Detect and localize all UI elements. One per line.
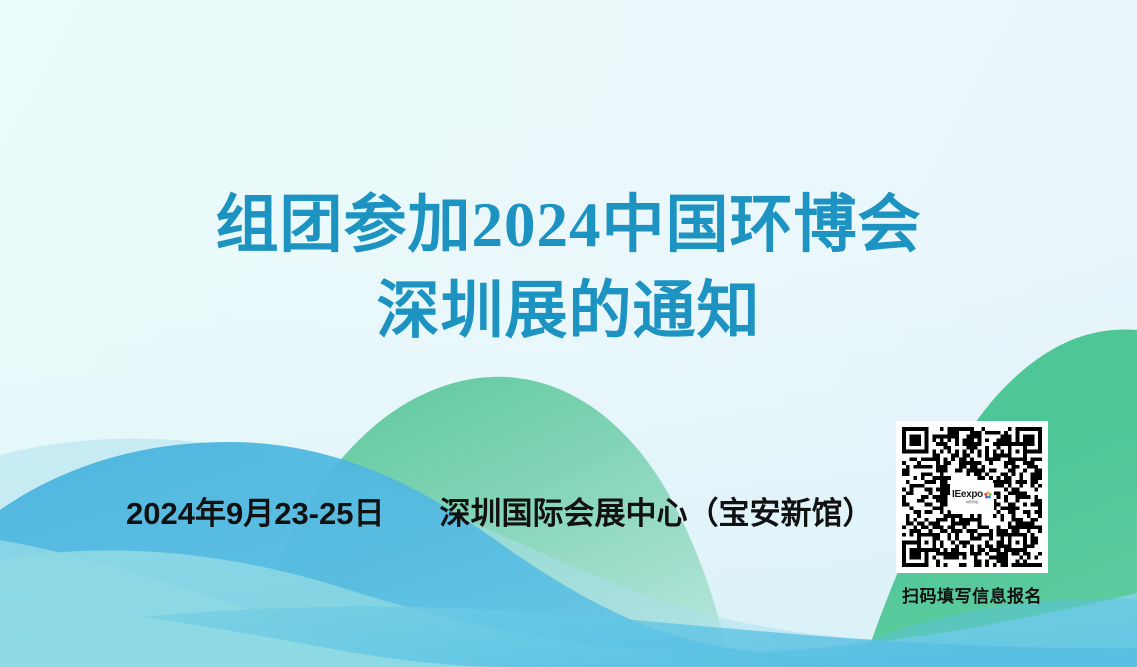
event-info-row: 2024年9月23-25日 深圳国际会展中心（宝安新馆） xyxy=(126,496,874,532)
qr-logo-subtitle: 中国环博会 xyxy=(966,501,979,504)
qr-logo-row: IEexpo xyxy=(952,490,992,500)
flower-logo-icon xyxy=(984,491,992,499)
poster-banner: 组团参加2024中国环博会 深圳展的通知 2024年9月23-25日 深圳国际会… xyxy=(0,0,1137,667)
qr-caption: 扫码填写信息报名 xyxy=(893,587,1051,607)
qr-code-icon[interactable]: IEexpo 中国环博会 xyxy=(896,421,1048,573)
event-date: 2024年9月23-25日 xyxy=(126,496,385,532)
qr-registration-block[interactable]: IEexpo 中国环博会 扫码填写信息报名 xyxy=(893,421,1051,607)
qr-center-logo: IEexpo 中国环博会 xyxy=(950,483,994,511)
event-venue: 深圳国际会展中心（宝安新馆） xyxy=(440,496,874,532)
qr-logo-text: IEexpo xyxy=(952,490,983,500)
